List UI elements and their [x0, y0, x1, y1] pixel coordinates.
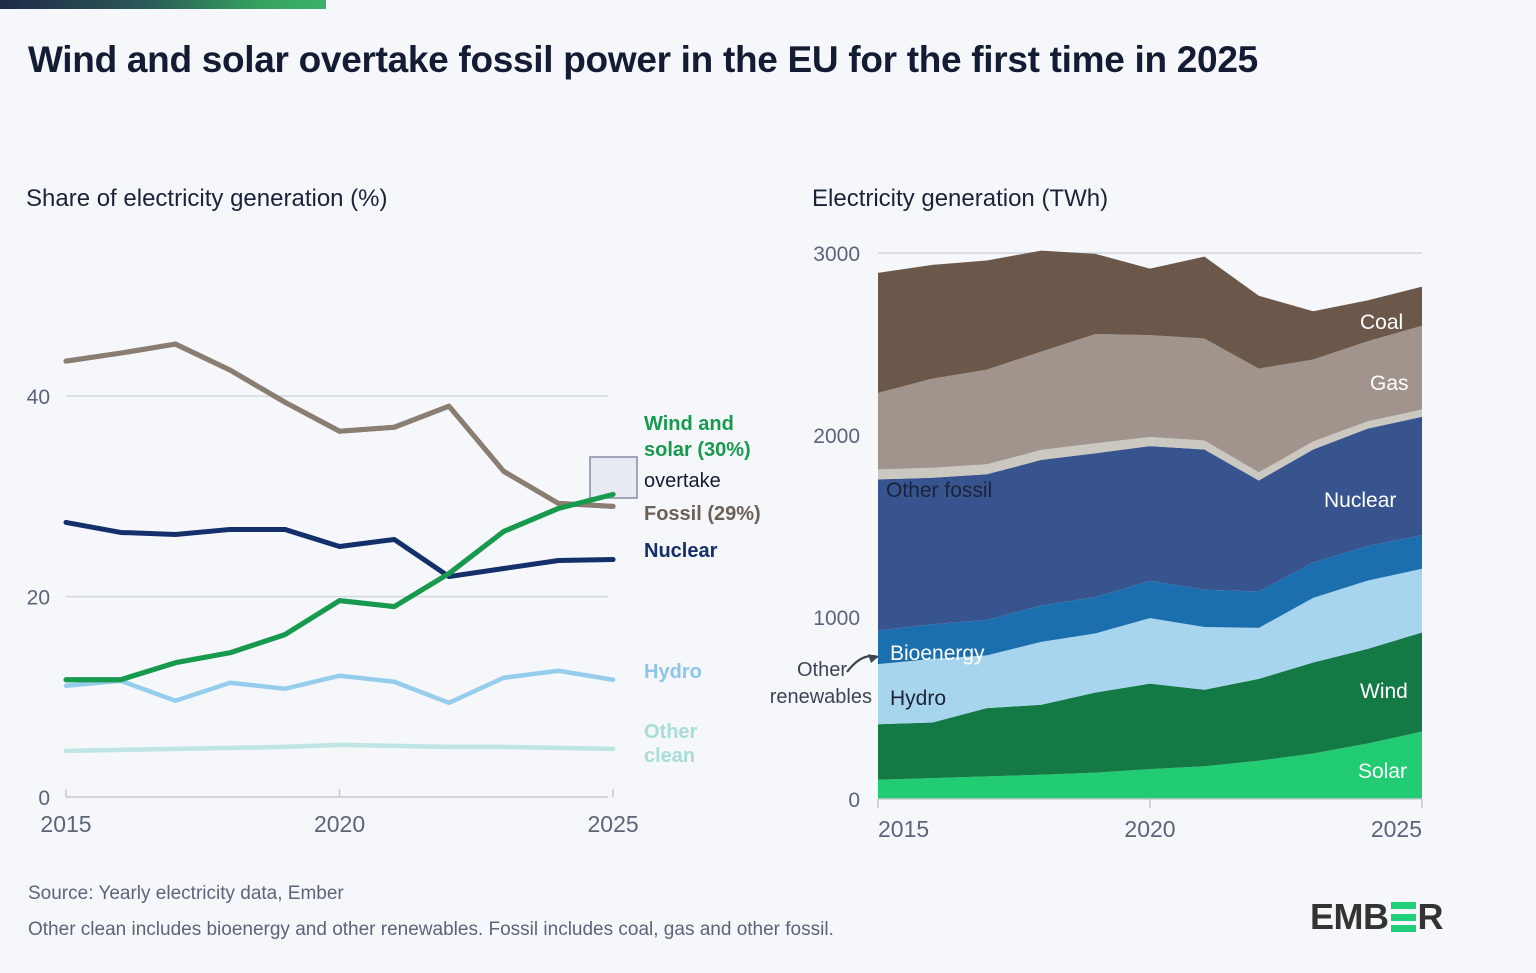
source-note: Source: Yearly electricity data, Ember [28, 884, 344, 903]
definition-note: Other clean includes bioenergy and other… [28, 920, 834, 939]
logo-text-left: EMB [1310, 896, 1389, 938]
area-label-hydro: Hydro [890, 687, 946, 710]
area-label-coal: Coal [1360, 311, 1403, 334]
electricity-generation-area-chart: 0100020003000201520202025CoalGasOther fo… [0, 0, 1536, 860]
y-tick-label: 3000 [813, 243, 860, 266]
x-tick-label: 2025 [1371, 816, 1422, 842]
ember-bar-e-icon [1391, 902, 1416, 932]
area-label-gas: Gas [1370, 372, 1409, 395]
other-renewables-annotation-line2: renewables [770, 686, 872, 708]
area-label-other-fossil: Other fossil [886, 479, 992, 502]
x-tick-label: 2020 [1124, 816, 1175, 842]
area-label-bioenergy: Bioenergy [890, 642, 985, 665]
x-tick-label: 2015 [878, 816, 929, 842]
logo-text-right: R [1418, 896, 1444, 938]
y-tick-label: 0 [848, 789, 860, 812]
other-renewables-annotation-line1: Other [797, 659, 847, 681]
area-label-solar: Solar [1358, 760, 1407, 783]
area-label-wind: Wind [1360, 680, 1408, 703]
ember-logo: EMB R [1310, 898, 1443, 936]
area-label-nuclear: Nuclear [1324, 489, 1396, 512]
y-tick-label: 1000 [813, 607, 860, 630]
y-tick-label: 2000 [813, 425, 860, 448]
